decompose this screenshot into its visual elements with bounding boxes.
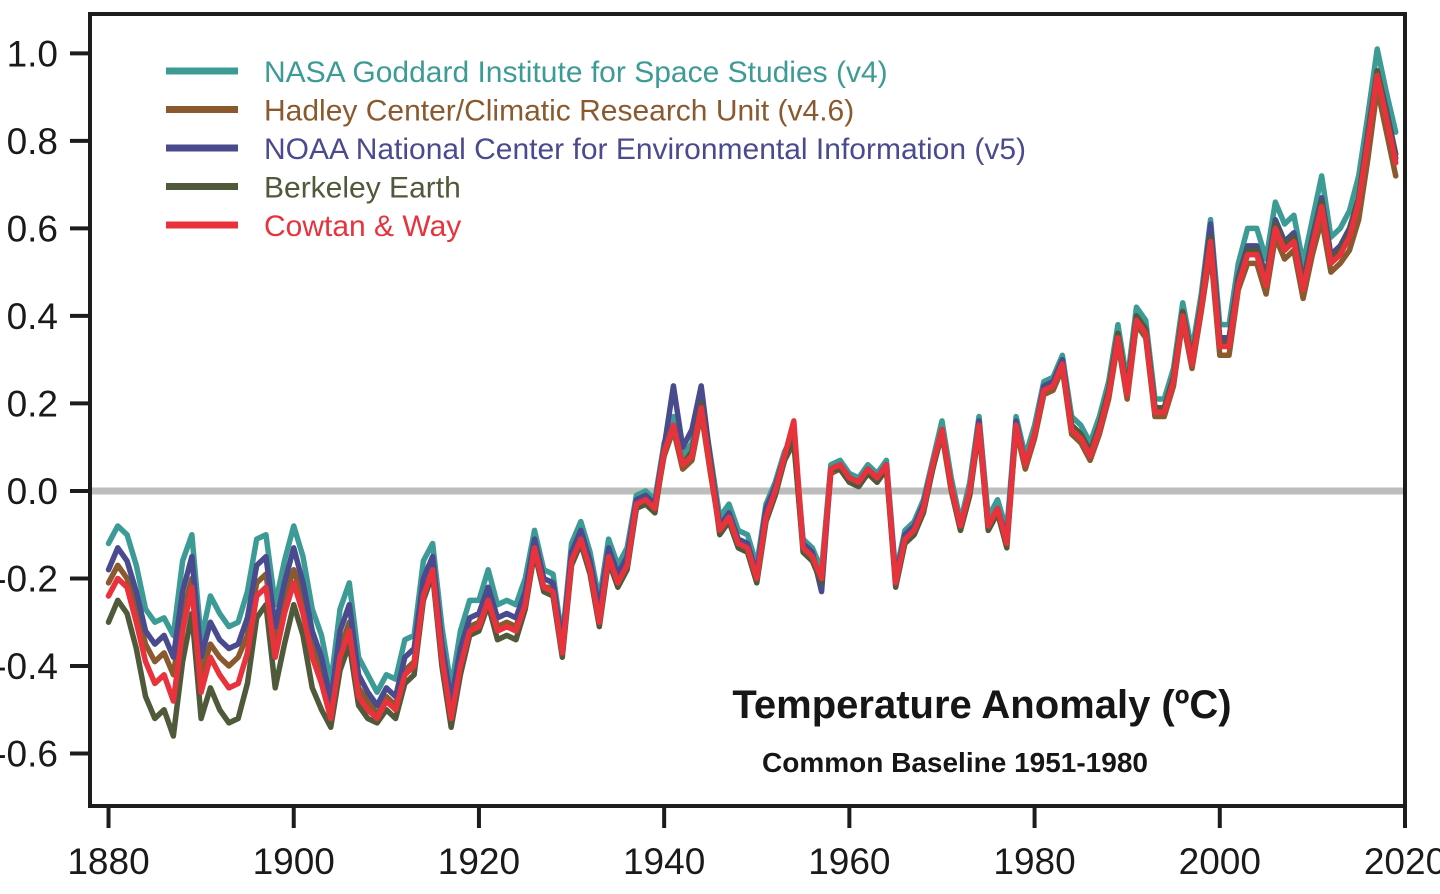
y-tick-label: -0.2 xyxy=(0,558,58,599)
y-tick-label: 1.0 xyxy=(7,33,58,74)
y-tick-label: 0.4 xyxy=(7,296,58,337)
page-title: Temperature Anomaly (ºC) xyxy=(732,683,1231,727)
legend-label: Berkeley Earth xyxy=(264,172,461,205)
x-tick-label: 1880 xyxy=(67,841,149,882)
temperature-anomaly-chart: 1.00.80.60.40.20.0-0.2-0.4-0.6 188019001… xyxy=(0,0,1440,894)
x-tick-label: 1920 xyxy=(438,841,520,882)
y-tick-label: 0.0 xyxy=(7,471,58,512)
legend-label: Cowtan & Way xyxy=(264,210,461,243)
legend-label: NOAA National Center for Environmental I… xyxy=(264,133,1026,166)
y-tick-label: -0.6 xyxy=(0,733,58,774)
x-tick-label: 1960 xyxy=(808,841,890,882)
x-tick-label: 2020 xyxy=(1364,841,1440,882)
y-tick-label: 0.2 xyxy=(7,383,58,424)
x-tick-label: 1940 xyxy=(623,841,705,882)
chart-subtitle: Common Baseline 1951-1980 xyxy=(762,747,1148,778)
legend-label: Hadley Center/Climatic Research Unit (v4… xyxy=(264,95,854,128)
y-tick-label: -0.4 xyxy=(0,646,58,687)
chart-svg: 1.00.80.60.40.20.0-0.2-0.4-0.6 188019001… xyxy=(0,0,1440,894)
y-tick-label: 0.8 xyxy=(7,121,58,162)
y-tick-label: 0.6 xyxy=(7,208,58,249)
x-tick-label: 1900 xyxy=(253,841,335,882)
legend-label: NASA Goddard Institute for Space Studies… xyxy=(264,56,888,89)
x-tick-label: 2000 xyxy=(1179,841,1261,882)
x-tick-label: 1980 xyxy=(993,841,1075,882)
